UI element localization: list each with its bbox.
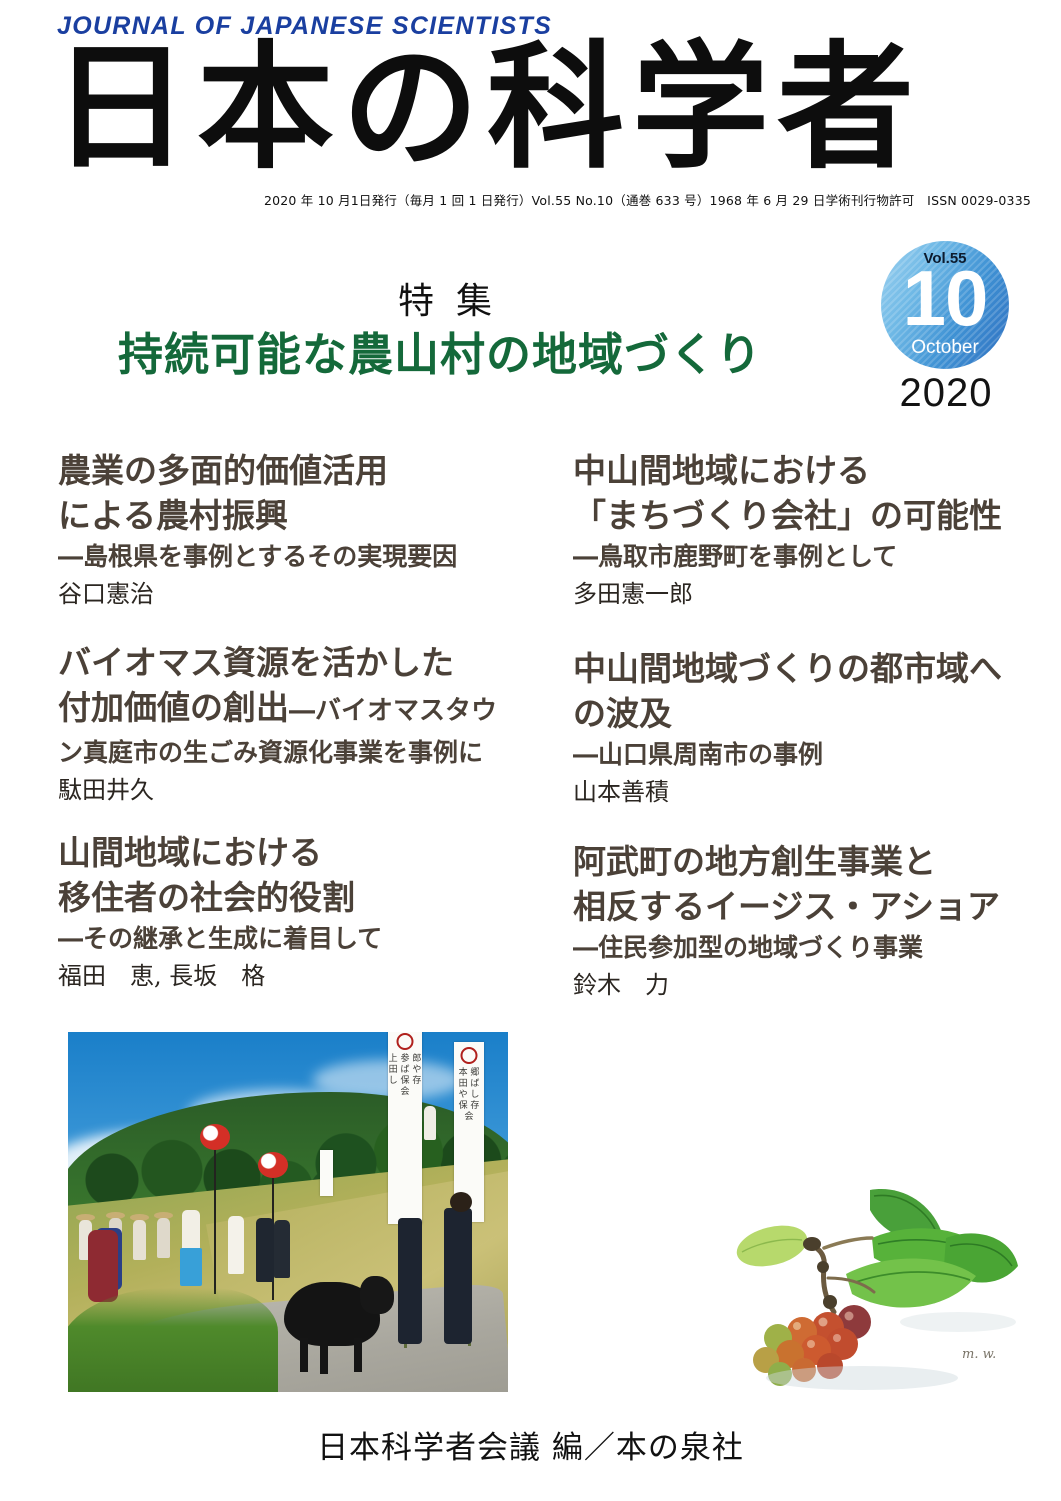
article-subtitle: ン真庭市の生ごみ資源化事業を事例に <box>58 734 528 772</box>
month-label: October <box>881 337 1009 359</box>
photo-pompom-pole <box>214 1144 216 1294</box>
volume-label: Vol.55 <box>881 250 1009 267</box>
photo-person <box>274 1220 290 1278</box>
berry-branch-icon: m. w. <box>722 1182 1022 1392</box>
cover-photograph: 上 参 郎 田 ば や し 保 存 会 本 郷 田 ば や し 保 存 会 <box>68 1032 508 1392</box>
article-title: 山間地域における 移住者の社会的役割 <box>58 830 528 920</box>
article-subtitle: ―島根県を事例とするその実現要因 <box>58 538 528 576</box>
article-title-line: 「まちづくり会社」の可能性 <box>573 493 1043 538</box>
photo-person <box>133 1220 146 1260</box>
article-subtitle: ―その継承と生成に着目して <box>58 920 528 958</box>
article-column-left: 農業の多面的価値活用 による農村振興 ―島根県を事例とするその実現要因 谷口憲治… <box>58 448 528 1021</box>
photo-banner-small <box>320 1150 333 1196</box>
artist-signature: m. w. <box>962 1347 996 1362</box>
article-title-line: 移住者の社会的役割 <box>58 875 528 920</box>
article-title: 中山間地域づくりの都市域へ の波及 <box>573 646 1043 736</box>
article-author: 山本善積 <box>573 775 1043 809</box>
issue-badge-circle: 10 Vol.55 October <box>881 241 1009 369</box>
article-title: 阿武町の地方創生事業と 相反するイージス・アショア <box>573 839 1043 929</box>
photo-pompom <box>200 1124 230 1150</box>
article-subtitle: ―鳥取市鹿野町を事例として <box>573 538 1043 576</box>
article-author: 谷口憲治 <box>58 577 528 611</box>
article-title-line: 山間地域における <box>58 830 528 875</box>
photo-person <box>157 1218 170 1258</box>
article-title-line: 農業の多面的価値活用 <box>58 448 528 493</box>
magazine-cover: JOURNAL OF JAPANESE SCIENTISTS 日本の科学者 20… <box>0 0 1061 1501</box>
publication-info: 2020 年 10 月1日発行（毎月 1 回 1 日発行）Vol.55 No.1… <box>264 190 1031 209</box>
photo-banner-text: 上 参 郎 田 ば や し 保 存 会 <box>388 1054 422 1098</box>
photo-person-head <box>450 1192 472 1212</box>
article-entry: 中山間地域における 「まちづくり会社」の可能性 ―鳥取市鹿野町を事例として 多田… <box>573 448 1043 611</box>
botanical-illustration: m. w. <box>722 1182 1022 1392</box>
photo-ox-leg <box>300 1338 308 1372</box>
article-entry: 山間地域における 移住者の社会的役割 ―その継承と生成に着目して 福田 恵, 長… <box>58 830 528 993</box>
article-author: 多田憲一郎 <box>573 577 1043 611</box>
photo-ox-leg <box>320 1340 328 1374</box>
article-title: バイオマス資源を活かした 付加価値の創出―バイオマスタウ <box>58 640 528 734</box>
feature-title: 持続可能な農山村の地域づくり <box>0 318 880 383</box>
photo-banner-crest-icon <box>461 1047 478 1064</box>
article-title-main: 付加価値の創出 <box>58 688 289 727</box>
photo-banner-text: 本 郷 田 ば や し 保 存 会 <box>454 1068 484 1123</box>
article-subtitle: ―住民参加型の地域づくり事業 <box>573 929 1043 967</box>
photo-ox-head <box>360 1276 394 1314</box>
photo-person-kimono <box>180 1248 202 1286</box>
article-title-line: 中山間地域づくりの都市域へ <box>573 646 1043 691</box>
article-title: 中山間地域における 「まちづくり会社」の可能性 <box>573 448 1043 538</box>
photo-banner-crest-icon <box>397 1033 414 1050</box>
photo-person-child <box>88 1230 118 1302</box>
photo-foreground-grass <box>68 1288 278 1392</box>
photo-person <box>228 1216 244 1274</box>
article-author: 福田 恵, 長坂 格 <box>58 959 528 993</box>
article-title-line: 中山間地域における <box>573 448 1043 493</box>
photo-ox-leg <box>354 1338 362 1372</box>
article-title-line: バイオマス資源を活かした <box>58 640 528 685</box>
feature-label: 特集 <box>0 272 890 324</box>
article-title-line: 阿武町の地方創生事業と <box>573 839 1043 884</box>
article-author: 鈴木 力 <box>573 968 1043 1002</box>
photo-person-kimono <box>398 1218 422 1344</box>
photo-person-kimono <box>444 1208 472 1344</box>
photo-person <box>256 1218 274 1282</box>
article-column-right: 中山間地域における 「まちづくり会社」の可能性 ―鳥取市鹿野町を事例として 多田… <box>573 448 1043 1030</box>
article-title-line: の波及 <box>573 691 1043 736</box>
article-subtitle-inline: ―バイオマスタウ <box>289 696 497 726</box>
year-label: 2020 <box>881 371 1011 416</box>
article-entry: 阿武町の地方創生事業と 相反するイージス・アショア ―住民参加型の地域づくり事業… <box>573 839 1043 1002</box>
article-subtitle: ―山口県周南市の事例 <box>573 736 1043 774</box>
article-title: 農業の多面的価値活用 による農村振興 <box>58 448 528 538</box>
photo-person-distant <box>424 1106 436 1140</box>
issue-badge: 10 Vol.55 October 2020 <box>881 241 1011 416</box>
publisher-line: 日本科学者会議 編／本の泉社 <box>0 1422 1061 1467</box>
article-entry: 農業の多面的価値活用 による農村振興 ―島根県を事例とするその実現要因 谷口憲治 <box>58 448 528 611</box>
article-author: 駄田井久 <box>58 773 528 807</box>
photo-pompom <box>258 1152 288 1178</box>
article-title-line: による農村振興 <box>58 493 528 538</box>
photo-banner: 上 参 郎 田 ば や し 保 存 会 <box>388 1032 422 1224</box>
article-entry: バイオマス資源を活かした 付加価値の創出―バイオマスタウ ン真庭市の生ごみ資源化… <box>58 640 528 807</box>
article-title-line: 付加価値の創出―バイオマスタウ <box>58 685 528 734</box>
article-title-line: 相反するイージス・アショア <box>573 884 1043 929</box>
article-entry: 中山間地域づくりの都市域へ の波及 ―山口県周南市の事例 山本善積 <box>573 646 1043 809</box>
masthead-title: 日本の科学者 <box>52 38 1017 178</box>
